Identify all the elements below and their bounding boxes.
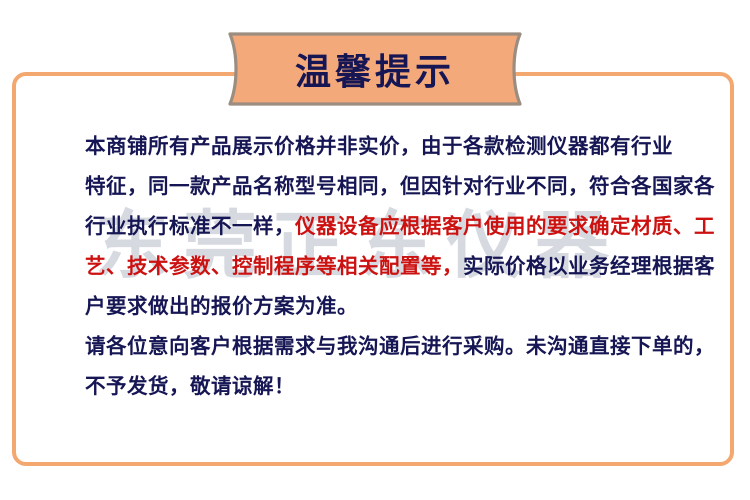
text-line: 请各位意向客户根据需求与我沟通后进行采购。未沟通直接下单的， bbox=[44, 326, 708, 366]
notice-body-text: 本商铺所有产品展示价格并非实价，由于各款检测仪器都有行业特征，同一款产品名称型号… bbox=[44, 126, 708, 406]
text-run: 户要求做出的报价方案为准。 bbox=[85, 294, 358, 318]
text-line: 特征，同一款产品名称型号相同，但因针对行业不同，符合各国家各 bbox=[44, 166, 708, 206]
text-line: 本商铺所有产品展示价格并非实价，由于各款检测仪器都有行业 bbox=[44, 126, 708, 166]
text-run: 请各位意向客户根据需求与我沟通后进行采购。未沟通直接下单的， bbox=[85, 334, 715, 358]
text-line: 户要求做出的报价方案为准。 bbox=[44, 286, 708, 326]
text-run: 行业执行标准不一样， bbox=[85, 214, 295, 238]
text-run-highlight: 仪器设备应根据客户使用的要求确定材质、工 bbox=[295, 214, 715, 238]
text-run-highlight: 艺、技术参数、控制程序等相关配置等， bbox=[85, 254, 463, 278]
text-run: 不予发货，敬请谅解！ bbox=[85, 374, 295, 398]
notice-card: 温馨提示 东莞正东仪器 本商铺所有产品展示价格并非实价，由于各款检测仪器都有行业… bbox=[0, 0, 750, 500]
text-run: 特征，同一款产品名称型号相同，但因针对行业不同，符合各国家各 bbox=[85, 174, 715, 198]
text-line: 不予发货，敬请谅解！ bbox=[44, 366, 708, 406]
paragraph-2: 请各位意向客户根据需求与我沟通后进行采购。未沟通直接下单的，不予发货，敬请谅解！ bbox=[44, 326, 708, 406]
paragraph-1: 本商铺所有产品展示价格并非实价，由于各款检测仪器都有行业特征，同一款产品名称型号… bbox=[44, 126, 708, 326]
text-line: 艺、技术参数、控制程序等相关配置等，实际价格以业务经理根据客 bbox=[44, 246, 708, 286]
text-line: 行业执行标准不一样，仪器设备应根据客户使用的要求确定材质、工 bbox=[44, 206, 708, 246]
text-run: 本商铺所有产品展示价格并非实价，由于各款检测仪器都有行业 bbox=[85, 134, 673, 158]
title-banner: 温馨提示 bbox=[220, 32, 530, 106]
text-run: 实际价格以业务经理根据客 bbox=[463, 254, 715, 278]
banner-title-text: 温馨提示 bbox=[220, 32, 530, 106]
